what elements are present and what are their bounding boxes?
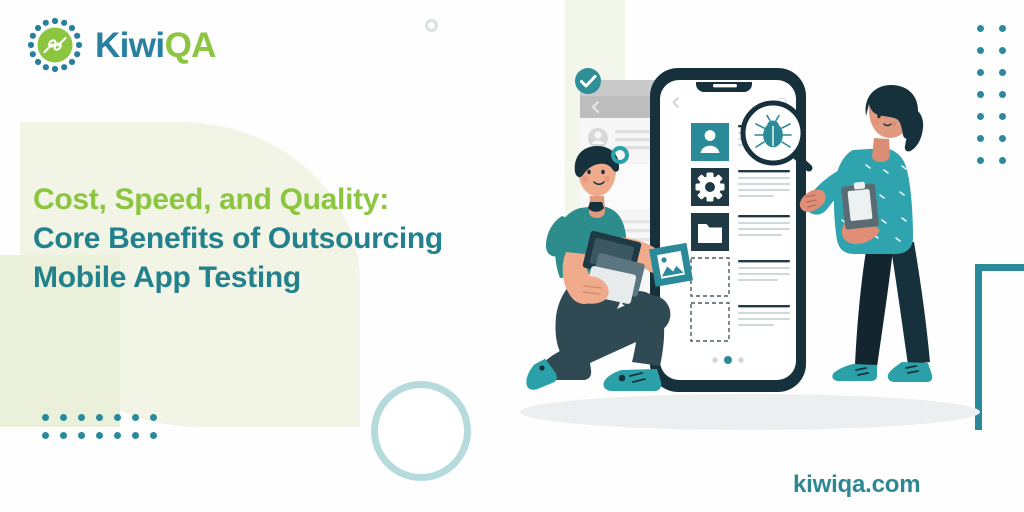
standing-woman-tester: [800, 85, 932, 382]
page-title: Cost, Speed, and Quality: Core Benefits …: [33, 180, 443, 297]
decor-dot: [114, 414, 121, 421]
kiwiqa-dna-circle-icon: [26, 16, 84, 74]
folder-tile-icon: [691, 213, 729, 251]
decor-dot: [150, 432, 157, 439]
phone-speaker: [713, 84, 737, 87]
mobile-app-testing-illustration: [470, 20, 990, 450]
brand-name-part1: Kiwi: [95, 26, 165, 65]
dot-grid-bottom-left-icon: [42, 414, 168, 450]
decor-dot: [42, 414, 49, 421]
woman-shoe-left: [832, 364, 877, 381]
circle-outline-decor-icon: [371, 381, 471, 481]
decor-dot: [96, 414, 103, 421]
gear-tile-icon: [691, 168, 729, 206]
woman-clipboard: [841, 181, 879, 229]
title-line-3: Mobile App Testing: [33, 258, 443, 297]
decor-dot: [60, 432, 67, 439]
decor-dot: [96, 432, 103, 439]
decor-dot: [114, 432, 121, 439]
decor-dot: [999, 25, 1006, 32]
decor-dot: [60, 414, 67, 421]
decor-dot: [78, 414, 85, 421]
brand-name-part2: QA: [165, 26, 216, 65]
decor-dot: [42, 432, 49, 439]
check-circle-badge: [575, 68, 601, 94]
decor-dot: [999, 69, 1006, 76]
title-line-1: Cost, Speed, and Quality:: [33, 180, 443, 219]
decor-dot: [999, 47, 1006, 54]
brand-logo[interactable]: KiwiQA: [26, 16, 216, 74]
man-shoe-front: [603, 369, 661, 391]
small-ring-decor-icon: [425, 19, 438, 32]
image-tile-icon: [649, 243, 693, 287]
decor-dot: [132, 432, 139, 439]
decor-dot: [999, 135, 1006, 142]
brand-name: KiwiQA: [95, 28, 216, 63]
user-tile-icon: [691, 123, 729, 161]
decor-dot: [999, 157, 1006, 164]
decor-dot: [78, 432, 85, 439]
banner-canvas: KiwiQA Cost, Speed, and Quality: Core Be…: [0, 0, 1024, 512]
decor-dot: [999, 113, 1006, 120]
website-url[interactable]: kiwiqa.com: [793, 471, 920, 499]
decor-dot: [150, 414, 157, 421]
decor-dot: [132, 414, 139, 421]
decor-dot: [999, 91, 1006, 98]
ground-shadow: [520, 394, 980, 430]
title-line-2: Core Benefits of Outsourcing: [33, 219, 443, 258]
